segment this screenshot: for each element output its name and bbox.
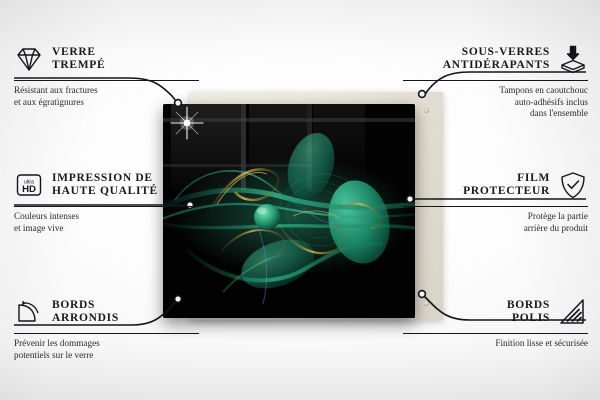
feature-description: Résistant aux fractures et aux égratignu… — [14, 85, 199, 108]
feature-sous-verres-antiderapants: SOUS-VERRES ANTIDÉRAPANTS Tampons en cao… — [403, 40, 588, 120]
divider — [14, 206, 199, 207]
feature-bords-arrondis: BORDS ARRONDIS Prévenir les dommages pot… — [14, 293, 199, 361]
rounded-corner-icon — [14, 297, 44, 327]
feature-verre-trempe: VERRE TREMPÉ Résistant aux fractures et … — [14, 40, 199, 108]
divider — [14, 80, 199, 81]
feature-impression-haute-qualite: ultra HD IMPRESSION DE HAUTE QUALITÉ Cou… — [14, 166, 199, 234]
divider — [403, 80, 588, 81]
feature-description: Prévenir les dommages potentiels sur le … — [14, 338, 199, 361]
ultra-hd-badge-icon: ultra HD — [14, 170, 44, 200]
infographic-canvas: VERRE TREMPÉ Résistant aux fractures et … — [0, 0, 600, 400]
shield-check-icon — [558, 170, 588, 200]
divider — [14, 333, 199, 334]
polished-edge-icon — [558, 297, 588, 327]
feature-title: BORDS ARRONDIS — [52, 299, 119, 326]
rubber-pad-icon — [558, 44, 588, 74]
feature-title: IMPRESSION DE HAUTE QUALITÉ — [52, 172, 158, 199]
feature-bords-polis: BORDS POLIS Finition lisse et sécurisée — [403, 293, 588, 350]
divider — [403, 333, 588, 334]
feature-description: Couleurs intenses et image vive — [14, 211, 199, 234]
feature-title: VERRE TREMPÉ — [52, 46, 105, 73]
feature-title: SOUS-VERRES ANTIDÉRAPANTS — [443, 46, 550, 73]
feature-title: BORDS POLIS — [507, 299, 550, 326]
feature-description: Finition lisse et sécurisée — [403, 338, 588, 350]
glass-panel — [163, 104, 415, 318]
diamond-icon — [14, 44, 44, 74]
feature-description: Tampons en caoutchouc auto-adhésifs incl… — [403, 85, 588, 120]
divider — [403, 206, 588, 207]
feature-description: Protège la partie arrière du produit — [403, 211, 588, 234]
feature-film-protecteur: FILM PROTECTEUR Protège la partie arrièr… — [403, 166, 588, 234]
feature-title: FILM PROTECTEUR — [463, 172, 550, 199]
abstract-artwork — [163, 104, 415, 318]
svg-text:HD: HD — [22, 184, 36, 195]
